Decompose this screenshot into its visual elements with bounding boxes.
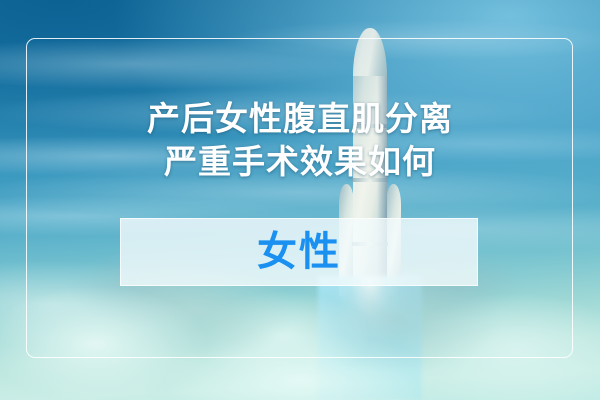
rocket-exhaust-plume — [318, 276, 422, 400]
photo-color-tint — [0, 0, 600, 400]
headline-line-1: 产后女性腹直肌分离 — [0, 97, 600, 140]
rocket-nose-cone — [353, 28, 387, 80]
sky-background — [0, 0, 600, 400]
decorative-frame — [26, 38, 573, 358]
keyword-text: 女性 — [257, 232, 341, 272]
page-title: 产后女性腹直肌分离 严重手术效果如何 — [0, 97, 600, 183]
cloud-streaks — [0, 0, 600, 400]
launch-smoke-clouds — [0, 0, 600, 400]
promo-banner: 产后女性腹直肌分离 严重手术效果如何 女性 — [0, 0, 600, 400]
headline-line-2: 严重手术效果如何 — [0, 140, 600, 183]
keyword-panel: 女性 — [120, 218, 478, 286]
